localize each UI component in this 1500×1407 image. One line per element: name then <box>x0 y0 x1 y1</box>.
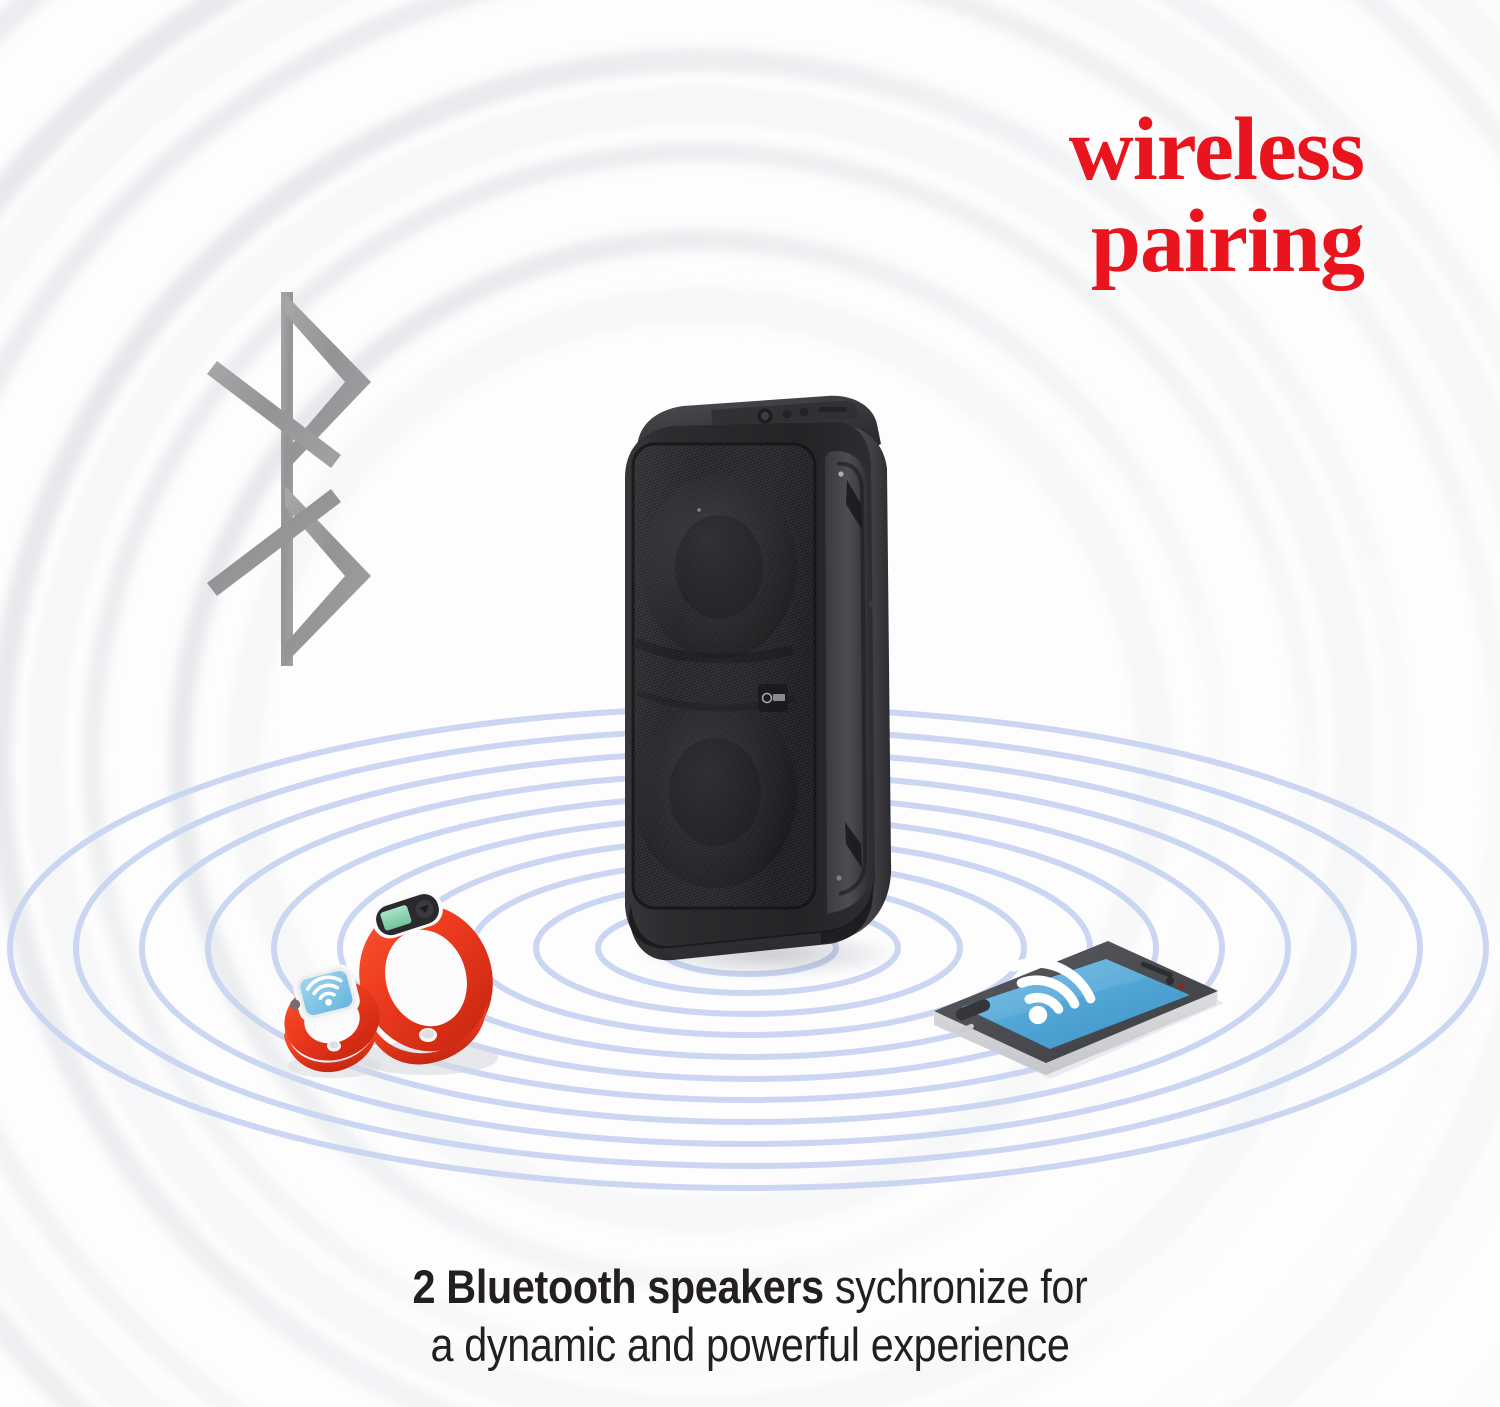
caption-line-1: 2 Bluetooth speakers sychronize for <box>90 1258 1410 1316</box>
caption-rest-text: sychronize for <box>824 1260 1088 1313</box>
marketing-image-canvas: wireless pairing 2 Bluetooth speakers sy… <box>0 0 1500 1407</box>
caption: 2 Bluetooth speakers sychronize for a dy… <box>90 1258 1410 1375</box>
headline-line-2: pairing <box>1069 198 1364 286</box>
speaker-brand-badge <box>758 684 788 712</box>
headline-line-1: wireless <box>1069 100 1364 199</box>
smartphone <box>918 885 1238 1100</box>
caption-line-2: a dynamic and powerful experience <box>90 1316 1410 1374</box>
headline: wireless pairing <box>1069 106 1364 286</box>
bluetooth-icon <box>195 288 385 670</box>
wearable-devices <box>276 880 544 1085</box>
caption-bold-text: 2 Bluetooth speakers <box>413 1260 824 1313</box>
bluetooth-party-speaker <box>615 392 905 964</box>
